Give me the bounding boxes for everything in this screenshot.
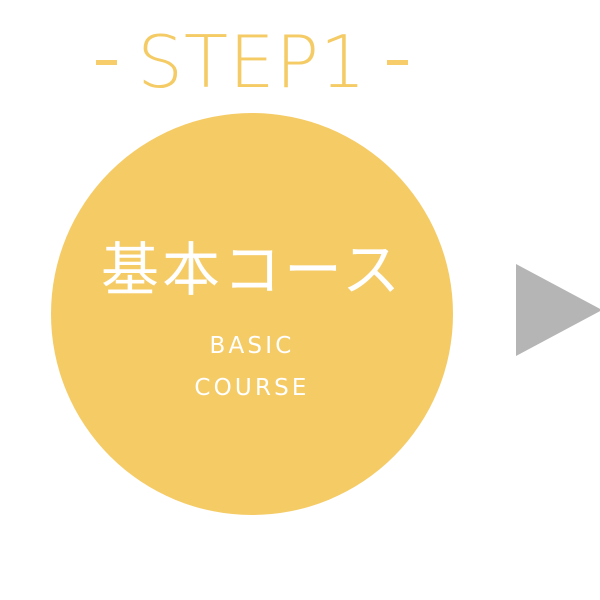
step-dash-right-icon <box>387 60 408 65</box>
course-subtitle-line2: COURSE <box>194 367 309 410</box>
step-heading: STEP1 <box>0 22 504 102</box>
play-triangle-right-icon <box>516 264 600 356</box>
basic-course-circle[interactable]: 基本コース BASIC COURSE <box>51 113 453 515</box>
step-label: STEP1 <box>137 26 366 98</box>
course-subtitle-en: BASIC COURSE <box>194 325 309 410</box>
course-title-ja: 基本コース <box>101 240 403 301</box>
next-step-arrow <box>516 264 600 356</box>
course-subtitle-line1: BASIC <box>194 325 309 368</box>
step-card: STEP1 基本コース BASIC COURSE <box>0 0 600 600</box>
step-dash-left-icon <box>96 60 117 65</box>
